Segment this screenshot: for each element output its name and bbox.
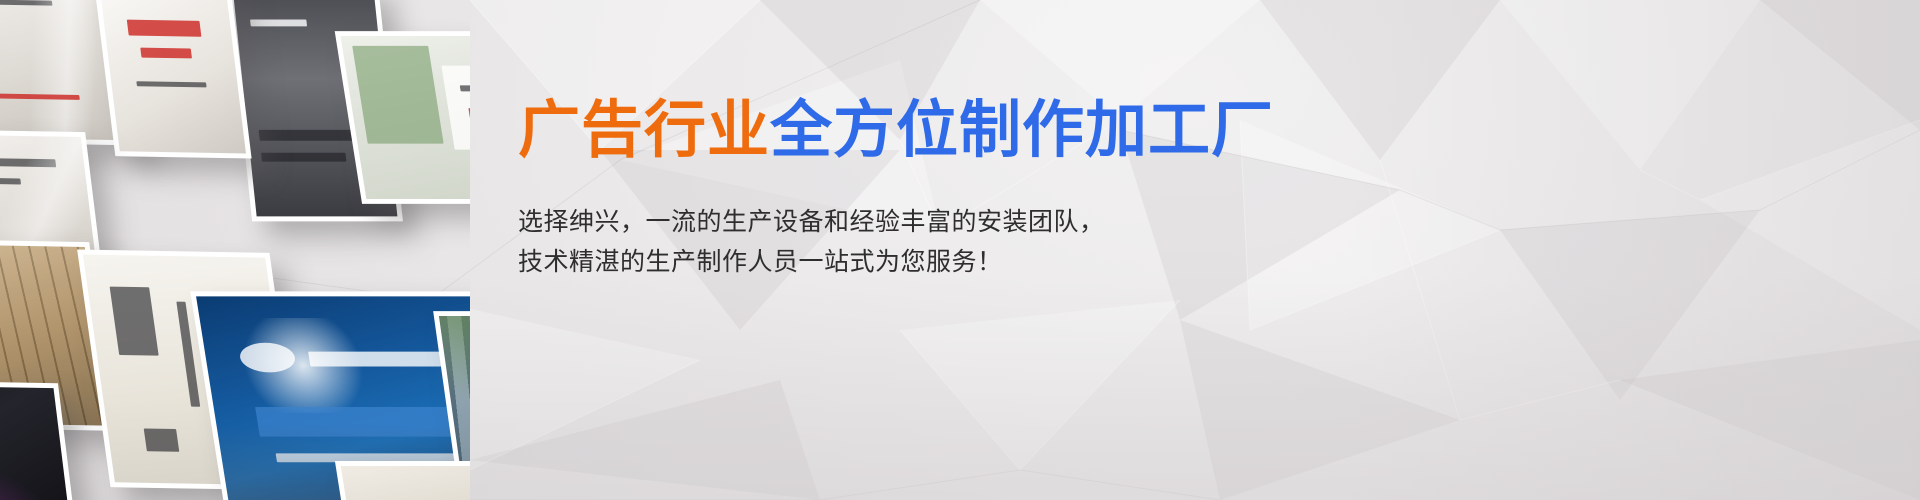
photo-collage (0, 0, 470, 500)
subtitle-line-2: 技术精湛的生产制作人员一站式为您服务！ (518, 242, 1278, 282)
collage-card-car-poster-box-2 (93, 0, 251, 159)
banner-headline: 广告行业全方位制作加工厂 (518, 96, 1278, 166)
banner-subtitle: 选择绅兴，一流的生产设备和经验丰富的安装团队， 技术精湛的生产制作人员一站式为您… (518, 202, 1278, 282)
banner-copy: 广告行业全方位制作加工厂 选择绅兴，一流的生产设备和经验丰富的安装团队， 技术精… (518, 96, 1278, 282)
promo-banner: 广告行业全方位制作加工厂 选择绅兴，一流的生产设备和经验丰富的安装团队， 技术精… (0, 0, 1920, 500)
headline-segment-blue: 全方位制作加工厂 (770, 96, 1274, 165)
collage-card-red-character-sign (335, 461, 470, 500)
subtitle-line-1: 选择绅兴，一流的生产设备和经验丰富的安装团队， (518, 202, 1278, 242)
headline-segment-orange: 广告行业 (518, 96, 770, 165)
